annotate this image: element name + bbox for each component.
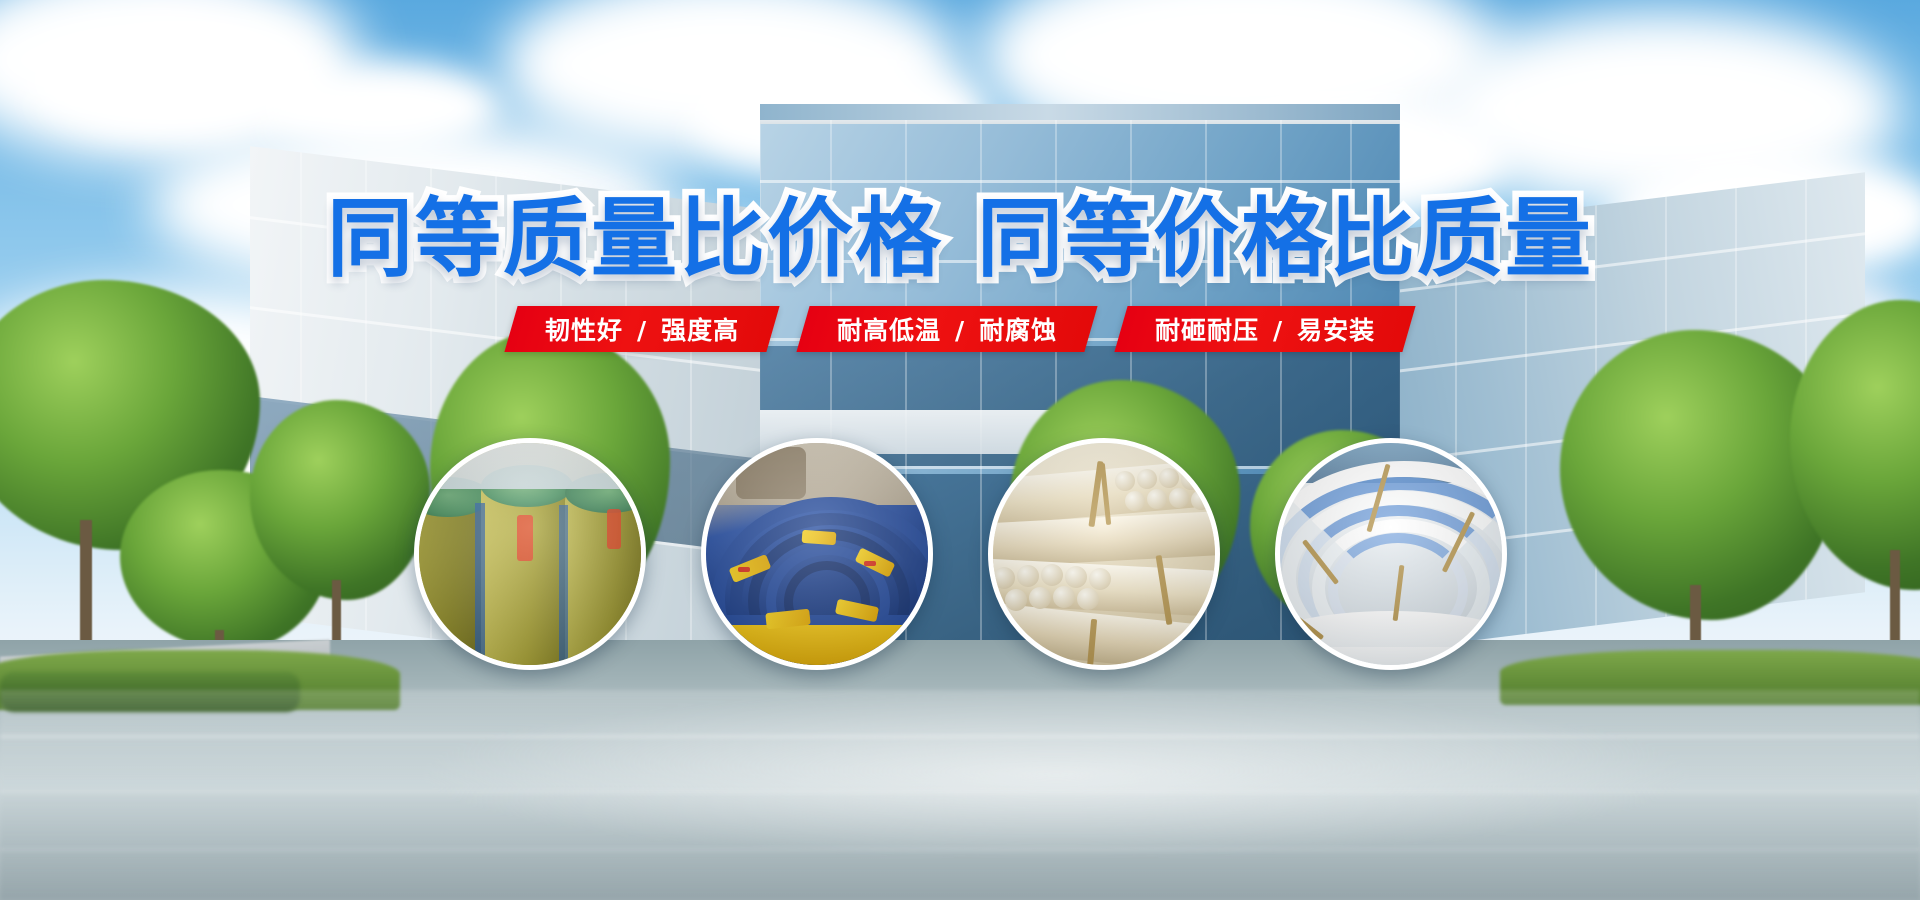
product-circle-pe-pipe-coil[interactable] (1275, 438, 1507, 670)
product-circle-olive-hose-rolls[interactable] (414, 438, 646, 670)
product-image-list (0, 438, 1920, 670)
feature-badge-2: 耐高低温/耐腐蚀 (796, 306, 1097, 352)
badge-3-left-label: 耐砸耐压 (1155, 316, 1259, 345)
promotional-banner: 同等质量比价格同等价格比质量 韧性好/强度高 耐高低温/耐腐蚀 耐砸耐压/易安装 (0, 0, 1920, 900)
badge-2-right-label: 耐腐蚀 (979, 316, 1057, 345)
feature-badge-3: 耐砸耐压/易安装 (1114, 306, 1415, 352)
feature-badge-list: 韧性好/强度高 耐高低温/耐腐蚀 耐砸耐压/易安装 (0, 306, 1920, 352)
water-reflection (0, 690, 1920, 900)
headline-part-2: 同等价格比质量 (977, 189, 1593, 289)
badge-2-left-label: 耐高低温 (837, 316, 941, 345)
product-circle-pvc-pipe-bundles[interactable] (988, 438, 1220, 670)
page-title: 同等质量比价格同等价格比质量 (0, 196, 1920, 282)
badge-1-separator: / (623, 316, 661, 345)
feature-badge-1: 韧性好/强度高 (504, 306, 779, 352)
badge-3-right-label: 易安装 (1297, 316, 1375, 345)
building-roof-cap (760, 104, 1400, 120)
headline-part-1: 同等质量比价格 (327, 189, 943, 289)
badge-2-separator: / (941, 316, 979, 345)
badge-1-right-label: 强度高 (661, 316, 739, 345)
badge-1-left-label: 韧性好 (545, 316, 623, 345)
product-circle-layflat-hose-coil[interactable] (701, 438, 933, 670)
badge-3-separator: / (1259, 316, 1297, 345)
